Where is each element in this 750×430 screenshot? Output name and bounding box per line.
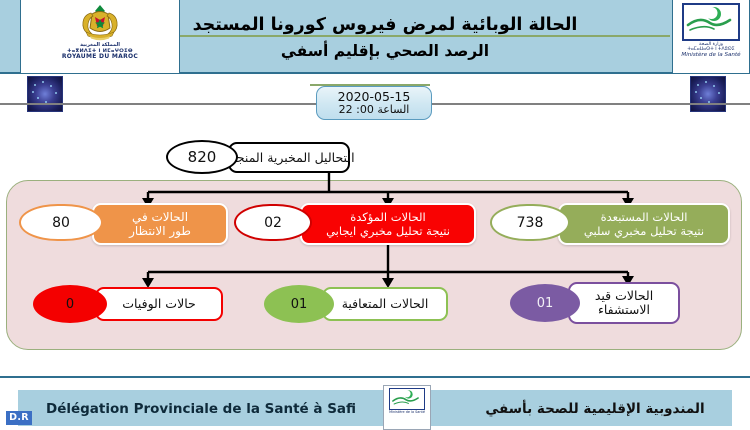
royaume-du-maroc-logo: المملكة المغربية ⵜⴰⴳⵍⴷⵉⵜ ⵏ ⵍⵎⴰⵖⵔⵉⴱ ROYAU… — [20, 0, 180, 74]
logo-caption-french: ROYAUME DU MAROC — [62, 54, 138, 60]
logo-caption: وزارة الصحة ⵜⴰⵎⴰⵡⴰⵙⵜ ⵏ ⵜⴷⵓⵙⵉ Ministère d… — [681, 42, 740, 58]
node-confirmed-cases[interactable]: 02 الحالات المؤكدة نتيجة تحليل مخبري ايج… — [300, 203, 476, 245]
logo-caption-french: Ministère de la Santé — [681, 53, 740, 58]
logo-caption: المملكة المغربية ⵜⴰⴳⵍⴷⵉⵜ ⵏ ⵍⵎⴰⵖⵔⵉⴱ ROYAU… — [62, 42, 138, 60]
node-hospitalized-label: الحالات قيد الاستشفاء — [568, 282, 680, 324]
node-recovered-value: 01 — [264, 285, 334, 323]
footer-top-rule — [0, 376, 750, 378]
coronavirus-image-left — [27, 76, 63, 112]
ministry-health-icon — [682, 3, 740, 41]
ministry-health-icon — [389, 388, 425, 410]
node-hospitalized[interactable]: 01 الحالات قيد الاستشفاء — [568, 282, 680, 324]
title-line-1: الحالة الوبائية لمرض فيروس كورونا المستج… — [193, 15, 578, 35]
node-hospitalized-value: 01 — [510, 284, 580, 322]
node-waiting-cases-label: الحالات في طور الانتظار — [92, 203, 228, 245]
node-deaths-label: حالات الوفيات — [95, 287, 223, 321]
footer-arabic-text: المندوبية الإقليمية للصحة بأسفي — [470, 398, 720, 420]
node-total-tests-value: 820 — [166, 140, 238, 174]
time-value: الساعة 00: 22 — [339, 103, 410, 116]
node-excluded-cases-label: الحالات المستبعدة نتيجة تحليل مخبري سلبي — [558, 203, 730, 245]
node-confirmed-cases-label: الحالات المؤكدة نتيجة تحليل مخبري ايجابي — [300, 203, 476, 245]
date-badge: 2020-05-15 الساعة 00: 22 — [316, 86, 432, 120]
node-waiting-cases-value: 80 — [19, 204, 103, 241]
coronavirus-image-right — [690, 76, 726, 112]
footer-ministry-logo: Ministère de la Santé — [383, 385, 431, 430]
node-deaths-value: 0 — [33, 285, 107, 323]
page-title: الحالة الوبائية لمرض فيروس كورونا المستج… — [120, 0, 650, 74]
node-waiting-cases[interactable]: 80 الحالات في طور الانتظار — [92, 203, 228, 245]
node-deaths[interactable]: 0 حالات الوفيات — [95, 287, 223, 321]
node-excluded-cases-value: 738 — [490, 204, 570, 241]
date-value: 2020-05-15 — [338, 90, 411, 103]
node-recovered[interactable]: 01 الحالات المتعافية — [322, 287, 448, 321]
coat-of-arms-icon — [72, 2, 128, 42]
node-confirmed-cases-value: 02 — [234, 204, 312, 241]
title-line-2: الرصد الصحي بإقليم أسفي — [281, 42, 489, 60]
node-total-tests-label: التحاليل المخبرية المنجزة — [228, 142, 350, 173]
node-excluded-cases[interactable]: 738 الحالات المستبعدة نتيجة تحليل مخبري … — [558, 203, 730, 245]
footer-french-text: Délégation Provinciale de la Santé à Saf… — [46, 398, 376, 420]
ministere-sante-logo: وزارة الصحة ⵜⴰⵎⴰⵡⴰⵙⵜ ⵏ ⵜⴷⵓⵙⵉ Ministère d… — [672, 0, 750, 74]
node-recovered-label: الحالات المتعافية — [322, 287, 448, 321]
infographic-page: الحالة الوبائية لمرض فيروس كورونا المستج… — [0, 0, 750, 430]
dr-badge: D.R — [6, 411, 32, 425]
node-total-tests[interactable]: 820 التحاليل المخبرية المنجزة — [228, 142, 350, 173]
